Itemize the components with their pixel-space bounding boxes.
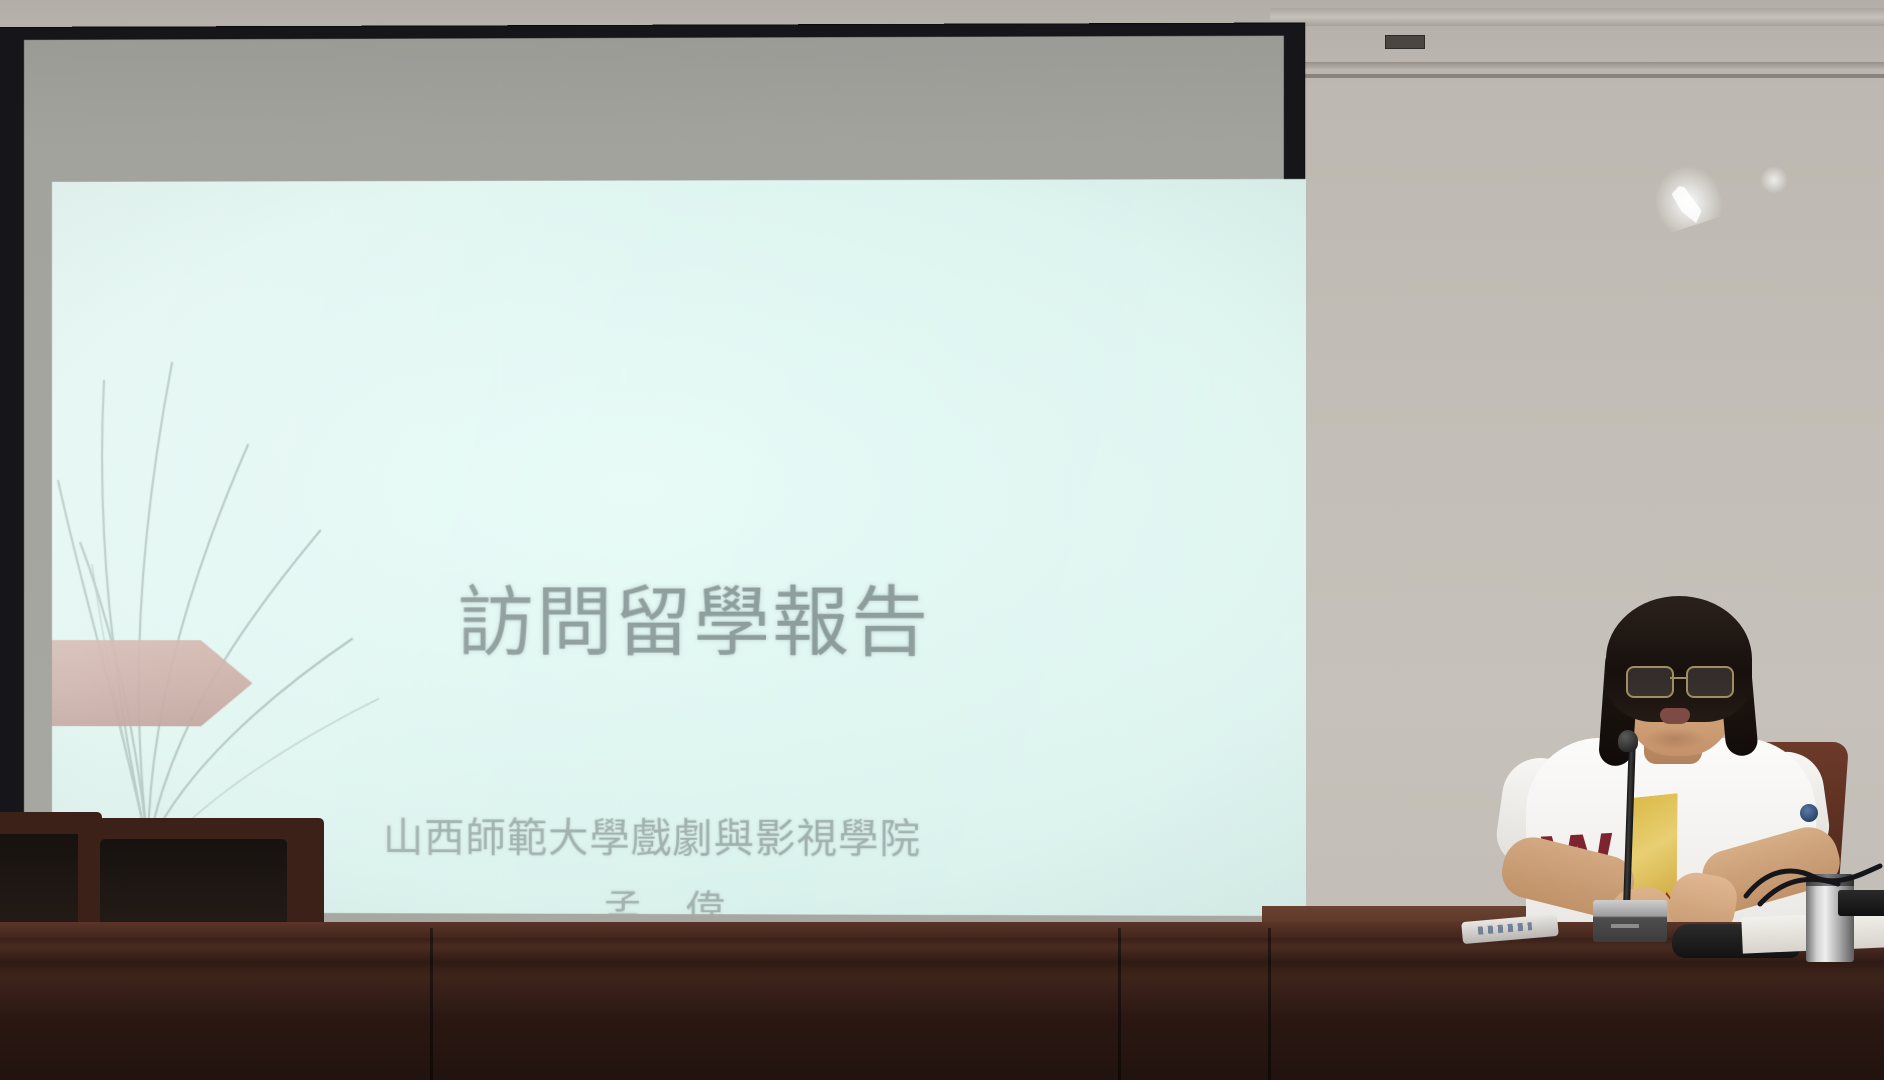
- table-front-panel: [0, 938, 1884, 1080]
- reed-decoration-icon: [52, 211, 484, 873]
- cables-icon: [1742, 856, 1884, 908]
- glasses-lens-right: [1686, 666, 1734, 698]
- screenshot-stage: 訪問留學報告 山西師範大學戲劇與影視學院 孟 偉 メールアドレス：9474376…: [0, 0, 1884, 1080]
- microphone-head-icon: [1618, 730, 1638, 752]
- wall-seam-line: [1270, 74, 1884, 78]
- table-seam: [1268, 928, 1271, 1080]
- slide-presenter-name: 孟 偉: [603, 878, 727, 916]
- glasses-icon: [1624, 666, 1736, 696]
- chair-pad: [0, 834, 85, 929]
- sleeve-badge-icon: [1800, 804, 1818, 822]
- speaker-hair: [1606, 596, 1752, 722]
- wall-highlight-icon: [1760, 166, 1788, 194]
- table-seam: [1118, 928, 1121, 1080]
- projector-screen-surface: 訪問留學報告 山西師範大學戲劇與影視學院 孟 偉 メールアドレス：9474376…: [24, 36, 1284, 951]
- remote-buttons[interactable]: [1478, 922, 1532, 935]
- glasses-bridge: [1670, 677, 1688, 679]
- slide-organization: 山西師範大學戲劇與影視學院: [383, 805, 921, 865]
- chair-pad: [100, 839, 287, 931]
- ceiling-rail-secondary: [1270, 62, 1884, 69]
- glasses-lens-left: [1626, 666, 1674, 698]
- microphone-base[interactable]: [1593, 900, 1667, 942]
- slide-title: 訪問留學報告: [457, 560, 930, 671]
- projected-slide: 訪問留學報告 山西師範大學戲劇與影視學院 孟 偉 メールアドレス：9474376…: [52, 179, 1306, 916]
- microphone-indicator-icon: [1611, 924, 1639, 928]
- speaker-chin-shadow: [1644, 728, 1706, 750]
- speaker-mouth: [1660, 708, 1690, 724]
- wall-vent-icon: [1385, 35, 1425, 49]
- table-seam: [430, 928, 433, 1080]
- ceiling-rail: [1270, 8, 1884, 26]
